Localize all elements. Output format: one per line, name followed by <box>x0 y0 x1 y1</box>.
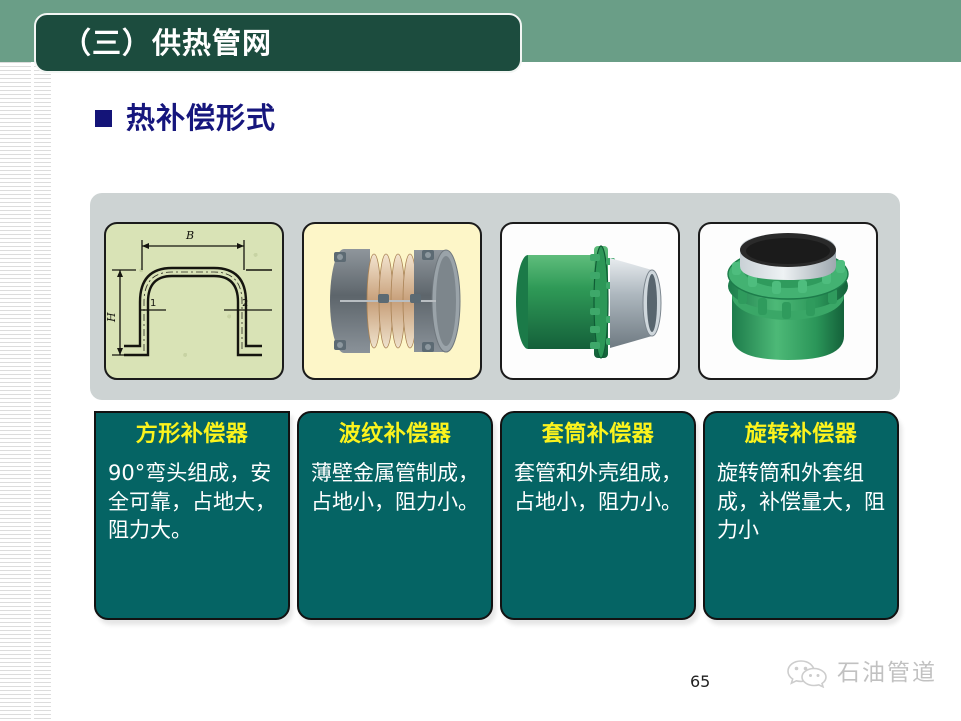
info-card-body: 套管和外壳组成，占地小，阻力小。 <box>510 459 686 516</box>
info-card-bellows: 波纹补偿器 薄壁金属管制成，占地小，阻力小。 <box>297 411 493 620</box>
info-card-body: 90°弯头组成，安全可靠，占地大，阻力大。 <box>104 459 280 544</box>
info-card-body: 薄壁金属管制成，占地小，阻力小。 <box>307 459 483 516</box>
image-row: B H 1 2 <box>104 222 878 380</box>
section-heading: 热补偿形式 <box>95 104 276 133</box>
image-card-rotary <box>698 222 878 380</box>
image-card-sleeve <box>500 222 680 380</box>
info-card-title: 方形补偿器 <box>136 423 249 447</box>
svg-text:H: H <box>106 312 118 323</box>
svg-text:2: 2 <box>242 298 248 309</box>
svg-text:B: B <box>185 229 194 242</box>
bellows-expansion-joint-photo <box>304 224 480 378</box>
left-stripe-decoration-inner <box>34 62 51 721</box>
info-card-title: 波纹补偿器 <box>339 423 452 447</box>
info-card-body: 旋转筒和外套组成，补偿量大，阻力小 <box>713 459 889 544</box>
page-number: 65 <box>690 672 710 691</box>
svg-text:1: 1 <box>150 298 156 309</box>
section-heading-label: 热补偿形式 <box>126 104 276 133</box>
square-bullet-icon <box>95 110 112 127</box>
info-card-rotary: 旋转补偿器 旋转筒和外套组成，补偿量大，阻力小 <box>703 411 899 620</box>
info-card-title: 旋转补偿器 <box>745 423 858 447</box>
info-card-row: 方形补偿器 90°弯头组成，安全可靠，占地大，阻力大。 波纹补偿器 薄壁金属管制… <box>94 411 899 620</box>
watermark: 石油管道 <box>786 658 937 688</box>
info-card-square: 方形补偿器 90°弯头组成，安全可靠，占地大，阻力大。 <box>94 411 290 620</box>
slide-title-plate: （三）供热管网 <box>34 13 522 73</box>
watermark-text: 石油管道 <box>837 662 937 685</box>
info-card-sleeve: 套筒补偿器 套管和外壳组成，占地小，阻力小。 <box>500 411 696 620</box>
wechat-bubbles-icon <box>786 658 828 688</box>
image-panel: B H 1 2 <box>90 193 900 400</box>
left-stripe-decoration-outer <box>0 62 31 721</box>
page-title: （三）供热管网 <box>36 29 272 58</box>
info-card-title: 套筒补偿器 <box>542 423 655 447</box>
rotary-expansion-joint-photo <box>700 224 876 378</box>
sleeve-expansion-joint-photo <box>502 224 678 378</box>
image-card-square-loop: B H 1 2 <box>104 222 284 380</box>
image-card-bellows <box>302 222 482 380</box>
square-loop-expansion-joint-diagram: B H 1 2 <box>106 224 282 378</box>
